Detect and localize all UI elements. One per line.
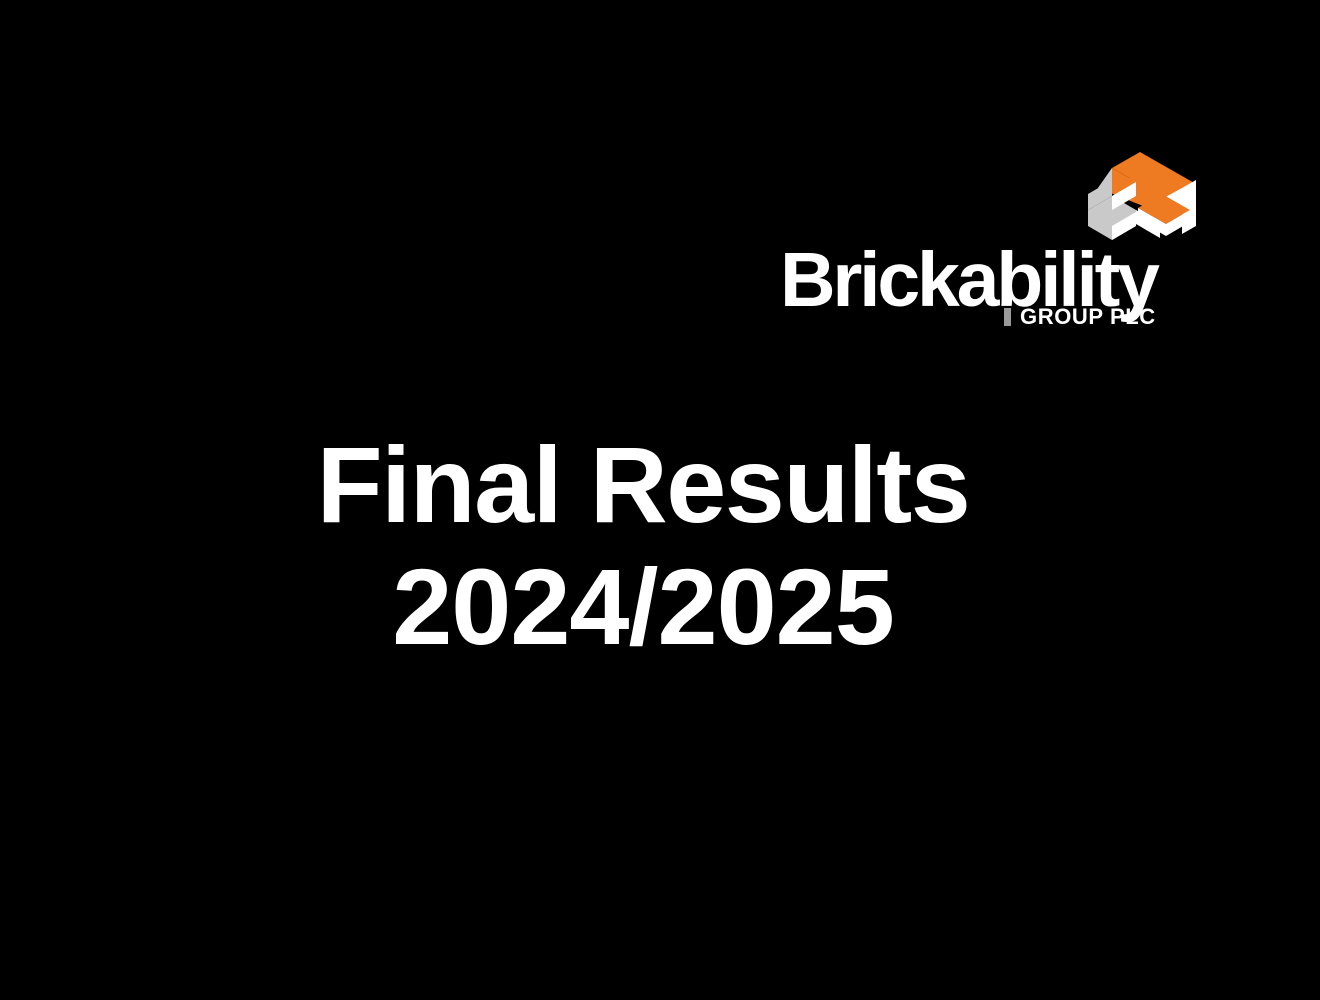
slide-title-line-1: Final Results	[0, 424, 1286, 546]
brand-tagline: GROUP PLC	[1004, 306, 1156, 328]
brickability-cube-logo-icon	[1078, 138, 1206, 250]
presentation-slide: Brickability GROUP PLC Final Results 202…	[0, 0, 1320, 1000]
brand-tagline-text: GROUP PLC	[1020, 306, 1156, 328]
brand-lockup: Brickability GROUP PLC	[780, 138, 1200, 338]
tagline-bar-icon	[1004, 308, 1011, 326]
slide-title-block: Final Results 2024/2025	[0, 424, 1286, 668]
slide-title-line-2: 2024/2025	[0, 546, 1286, 668]
